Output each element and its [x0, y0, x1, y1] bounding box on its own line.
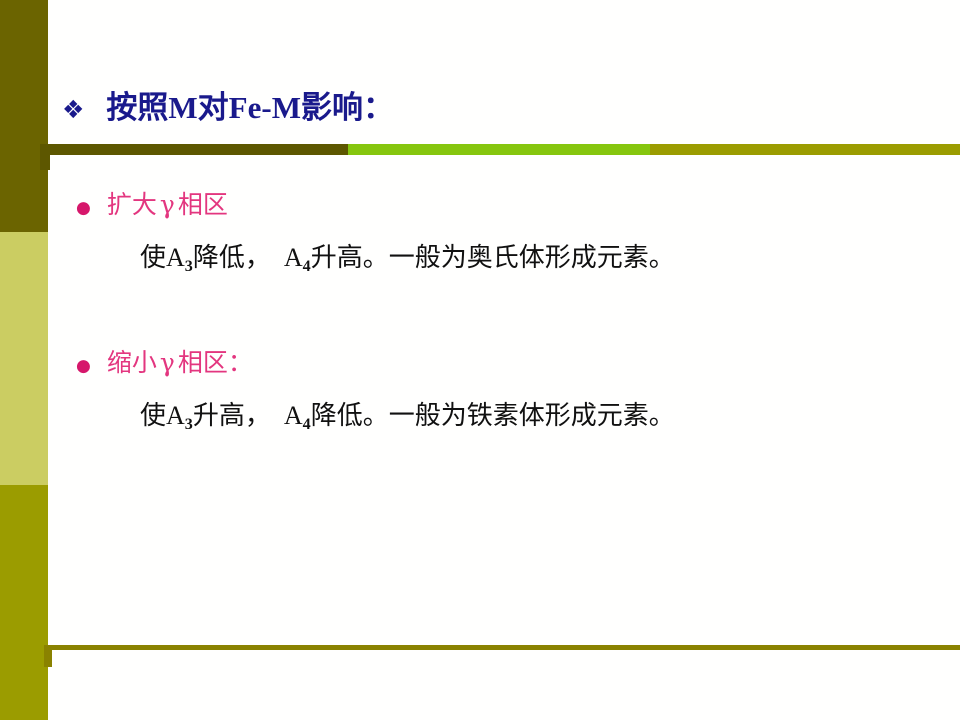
- detail-text: 使A3降低， A4升高。一般为奥氏体形成元素。: [0, 237, 960, 274]
- page-title: 按照M对Fe-M影响：: [106, 82, 394, 127]
- slide-canvas: ❖ 按照M对Fe-M影响： ● 扩大γ相区 使A3降低， A4升高。一般为奥氏体…: [0, 0, 960, 720]
- detail-mid: 升高， A: [193, 401, 303, 430]
- filled-circle-bullet-icon: ●: [76, 200, 91, 217]
- detail-pre: 使A: [140, 401, 185, 430]
- subscript-a4: 4: [303, 258, 311, 275]
- slide-body: ● 扩大γ相区 使A3降低， A4升高。一般为奥氏体形成元素。 ● 缩小γ相区：…: [0, 185, 960, 432]
- sidebar-band-bottom: [0, 485, 48, 720]
- bullet-heading-text: 扩大γ相区: [107, 185, 228, 221]
- gamma-symbol: γ: [157, 348, 178, 377]
- diamond-cluster-icon: ❖: [62, 97, 84, 122]
- divider-segment-left: [40, 144, 348, 155]
- detail-pre: 使A: [140, 243, 185, 272]
- divider-segment-right: [650, 144, 960, 155]
- heading-prefix: 缩小: [107, 350, 157, 377]
- heading-prefix: 扩大: [107, 192, 157, 219]
- subscript-a3: 3: [185, 258, 193, 275]
- gamma-symbol: γ: [157, 190, 178, 219]
- detail-text: 使A3升高， A4降低。一般为铁素体形成元素。: [0, 395, 960, 432]
- bullet-heading-text: 缩小γ相区：: [107, 343, 253, 379]
- content-block-shrink-gamma: ● 缩小γ相区： 使A3升高， A4降低。一般为铁素体形成元素。: [0, 343, 960, 432]
- heading-suffix: 相区: [178, 192, 228, 219]
- bullet-heading-row: ● 缩小γ相区：: [0, 343, 960, 379]
- bottom-divider: [48, 645, 960, 650]
- subscript-a3: 3: [185, 416, 193, 433]
- detail-mid: 降低， A: [193, 243, 303, 272]
- content-block-expand-gamma: ● 扩大γ相区 使A3降低， A4升高。一般为奥氏体形成元素。: [0, 185, 960, 274]
- detail-post: 降低。一般为铁素体形成元素。: [311, 401, 675, 430]
- filled-circle-bullet-icon: ●: [76, 358, 91, 375]
- slide-title: ❖ 按照M对Fe-M影响：: [62, 82, 394, 127]
- detail-post: 升高。一般为奥氏体形成元素。: [311, 243, 675, 272]
- bullet-heading-row: ● 扩大γ相区: [0, 185, 960, 221]
- heading-suffix: 相区：: [178, 350, 253, 377]
- subscript-a4: 4: [303, 416, 311, 433]
- divider-segment-middle: [348, 144, 650, 155]
